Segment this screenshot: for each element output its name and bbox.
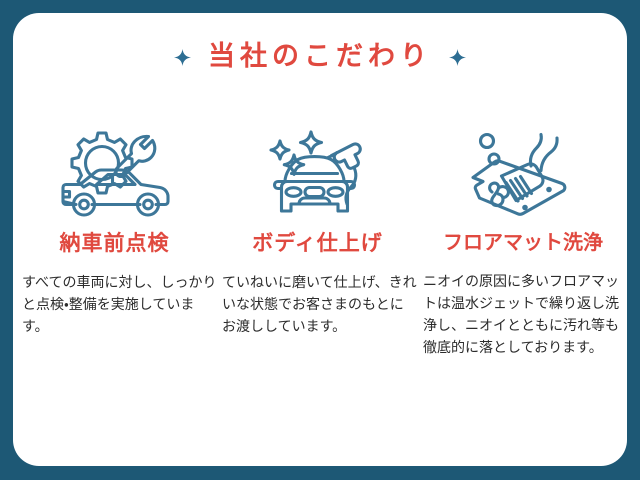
feature-column-floor-mat: フロアマット洗浄 ニオイの原因に多いフロアマットは温水ジェットで繰り返し洗浄し、… [419,121,627,359]
feature-columns: 納車前点検 すべての車両に対し、しっかりと点検・整備を実施しています。 [13,121,627,359]
feature-body-text: ニオイの原因に多いフロアマットは温水ジェットで繰り返し洗浄し、ニオイとともに汚れ… [423,271,623,359]
page-root: 当社のこだわり [0,0,640,480]
page-title-row: 当社のこだわり [13,43,627,72]
feature-column-inspection: 納車前点検 すべての車両に対し、しっかりと点検・整備を実施しています。 [13,121,216,338]
sparkle-icon [174,49,191,66]
feature-heading: ボディ仕上げ [252,233,383,254]
car-gear-wrench-icon [52,121,177,229]
feature-column-body-polish: ボディ仕上げ ていねいに磨いて仕上げ、きれいな状態でお客さまのもとにお渡ししてい… [216,121,419,338]
content-card: 当社のこだわり [13,13,627,466]
floor-mat-brush-icon [461,121,586,229]
feature-heading: 納車前点検 [60,233,170,254]
sparkle-icon [449,49,466,66]
feature-body-text: すべての車両に対し、しっかりと点検・整備を実施しています。 [13,272,217,338]
page-title: 当社のこだわり [208,43,432,72]
feature-heading: フロアマット洗浄 [443,233,603,253]
feature-body-text: ていねいに磨いて仕上げ、きれいな状態でお客さまのもとにお渡ししています。 [218,272,417,338]
car-polish-sparkle-icon [255,121,380,229]
